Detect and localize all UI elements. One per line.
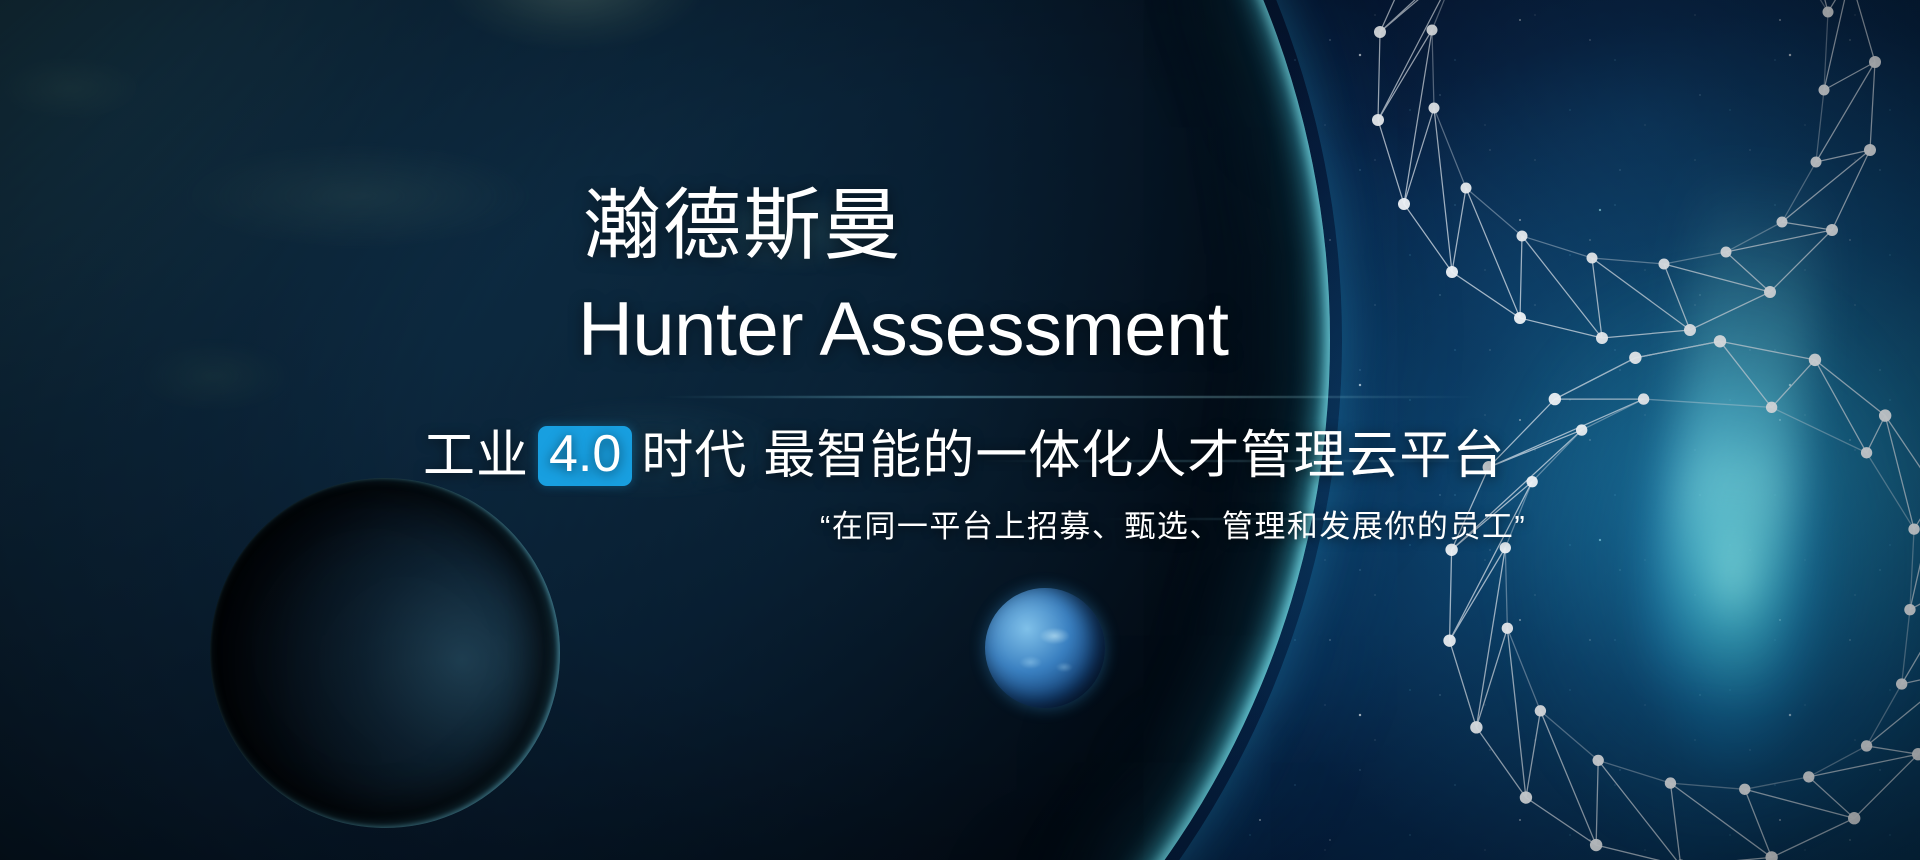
hero-text-block: 瀚德斯曼 Hunter Assessment 工业 4.0 时代 最智能的一体化…	[0, 0, 1920, 860]
tagline-quote: “在同一平台上招募、甄选、管理和发展你的员工”	[820, 508, 1526, 545]
tagline-part-3: 最智能的一体化人才管理云平台	[763, 430, 1505, 482]
hero-banner: 瀚德斯曼 Hunter Assessment 工业 4.0 时代 最智能的一体化…	[0, 0, 1920, 860]
tagline-part-1: 工业	[423, 430, 529, 482]
industry-version-badge: 4.0	[538, 426, 632, 486]
tagline: 工业 4.0 时代 最智能的一体化人才管理云平台	[423, 426, 1505, 486]
brand-title-chinese: 瀚德斯曼	[583, 186, 903, 266]
tagline-part-2: 时代	[641, 430, 747, 482]
brand-title-english: Hunter Assessment	[578, 292, 1228, 368]
